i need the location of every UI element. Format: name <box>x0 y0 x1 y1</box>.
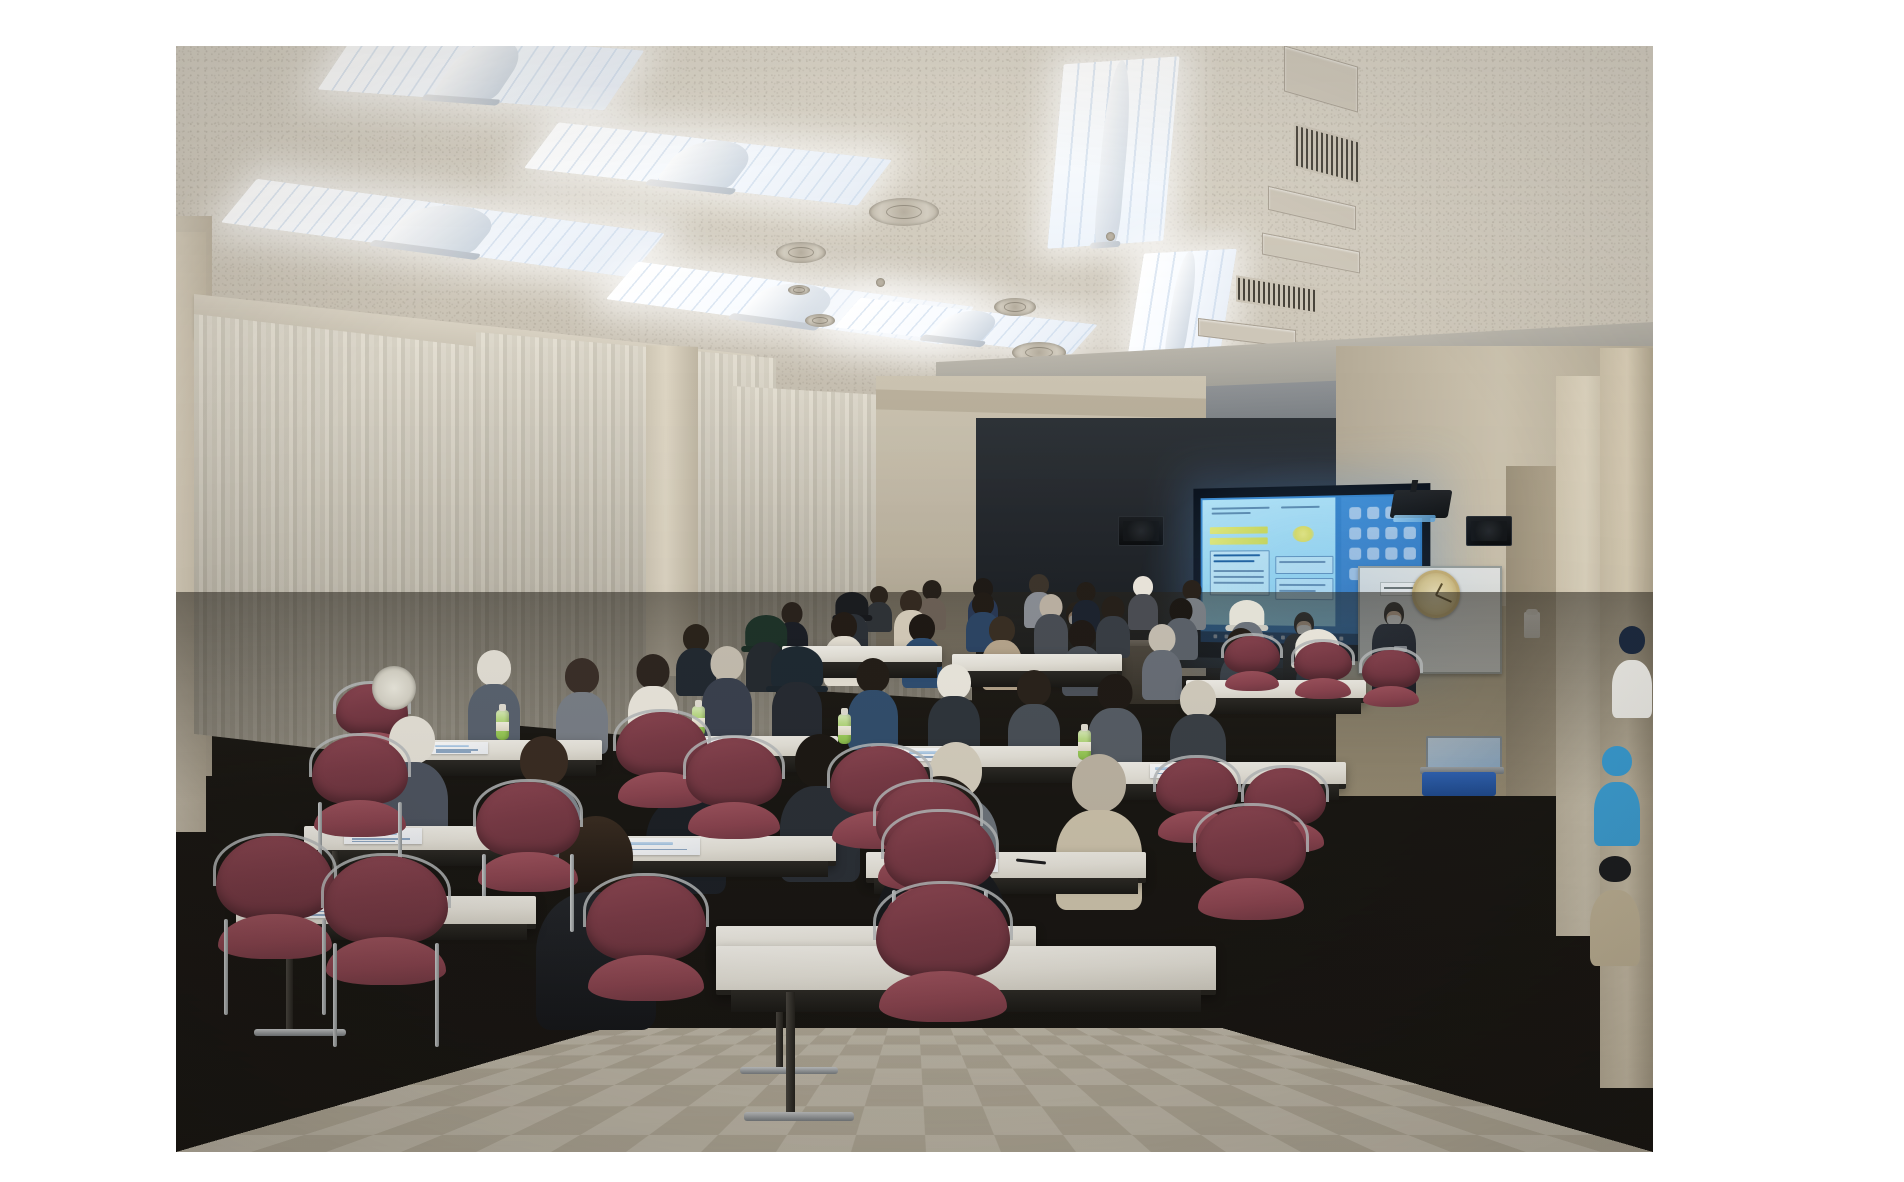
wall-speaker <box>1466 516 1512 546</box>
chair <box>216 836 334 970</box>
attendee <box>702 646 752 738</box>
wall-speaker <box>1118 516 1164 546</box>
light-fixture-5 <box>1047 56 1179 249</box>
attendee <box>1128 576 1158 630</box>
chair <box>876 884 1010 1034</box>
seminar-room-photograph <box>176 46 1653 1152</box>
attendee-right-edge <box>1612 626 1652 718</box>
attendee-right-edge <box>1594 746 1640 846</box>
ceiling-air-diffuser <box>776 242 826 263</box>
ceiling-projector <box>1390 490 1453 518</box>
chair <box>586 876 706 1012</box>
light-fixture-6 <box>1127 249 1237 359</box>
sprinkler-head <box>876 278 885 287</box>
photo-page <box>0 0 1904 1182</box>
chair <box>1196 806 1306 930</box>
chair <box>1224 636 1280 696</box>
chair <box>686 738 782 848</box>
attendee <box>866 586 892 632</box>
attendee-right-edge <box>1590 856 1640 966</box>
ceiling-air-diffuser <box>869 198 939 226</box>
chair <box>1294 642 1352 704</box>
blue-bag <box>1422 772 1496 796</box>
ceiling-air-diffuser <box>994 298 1036 316</box>
ceiling-air-diffuser <box>788 285 810 295</box>
chair <box>1362 650 1420 712</box>
chair <box>312 736 408 846</box>
attendee <box>772 650 822 742</box>
floor-fan <box>372 666 416 710</box>
attendee <box>468 650 520 746</box>
ceiling-air-diffuser <box>805 314 835 327</box>
chair <box>476 782 580 902</box>
sprinkler-head <box>1106 232 1115 241</box>
chair <box>324 856 448 996</box>
